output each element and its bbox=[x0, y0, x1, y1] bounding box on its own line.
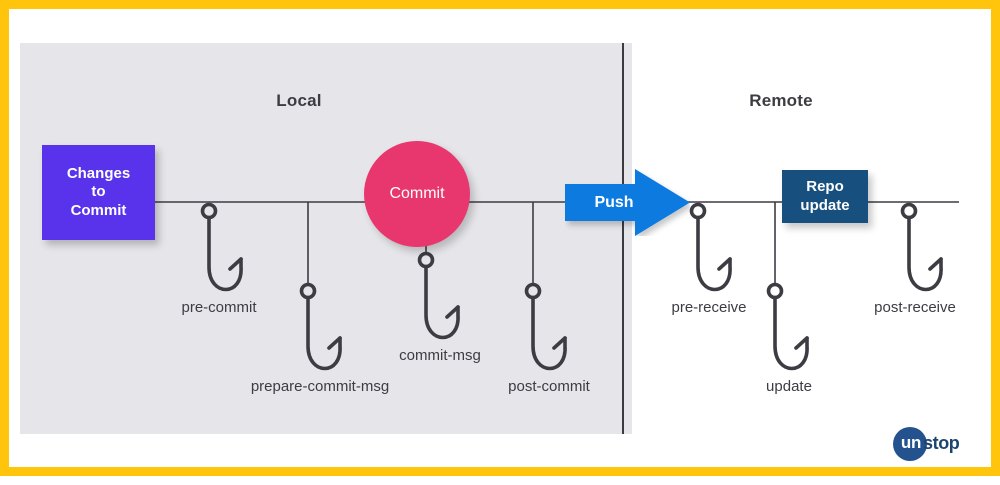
hook-label-update: update bbox=[766, 378, 812, 395]
hook-label-pre-commit: pre-commit bbox=[181, 299, 256, 316]
hook-label-prepare-commit-msg: prepare-commit-msg bbox=[251, 378, 389, 395]
changes-line-2: to bbox=[91, 183, 105, 200]
repo-line-1: Repo bbox=[806, 178, 844, 195]
logo-stop-text: stop bbox=[923, 433, 959, 454]
hook-label-commit-msg: commit-msg bbox=[399, 347, 481, 364]
commit-node-label: Commit bbox=[389, 185, 444, 203]
hook-icon-commit-msg bbox=[420, 254, 459, 338]
push-arrow-icon bbox=[565, 169, 690, 236]
repo-update-box: Repo update bbox=[782, 170, 868, 223]
hook-icon-pre-receive bbox=[692, 205, 731, 290]
hook-icon-prepare-commit-msg bbox=[302, 285, 341, 369]
diagram-canvas: Local Remote Changes to Commit Commit bbox=[0, 0, 1000, 476]
hook-icon-post-receive bbox=[903, 205, 942, 290]
changes-to-commit-box: Changes to Commit bbox=[42, 145, 155, 240]
hook-label-pre-receive: pre-receive bbox=[671, 299, 746, 316]
hook-icon-post-commit bbox=[527, 285, 566, 369]
commit-node: Commit bbox=[364, 141, 470, 247]
changes-line-1: Changes bbox=[67, 165, 130, 182]
hook-icon-update bbox=[769, 285, 808, 369]
hook-label-post-receive: post-receive bbox=[874, 299, 956, 316]
hook-icon-pre-commit bbox=[203, 205, 242, 290]
changes-line-3: Commit bbox=[71, 202, 127, 219]
pipeline-lines bbox=[9, 9, 1000, 485]
logo-un-text: un bbox=[897, 433, 925, 453]
hook-label-post-commit: post-commit bbox=[508, 378, 590, 395]
repo-line-2: update bbox=[800, 197, 849, 214]
unstop-logo: un stop bbox=[893, 427, 993, 461]
